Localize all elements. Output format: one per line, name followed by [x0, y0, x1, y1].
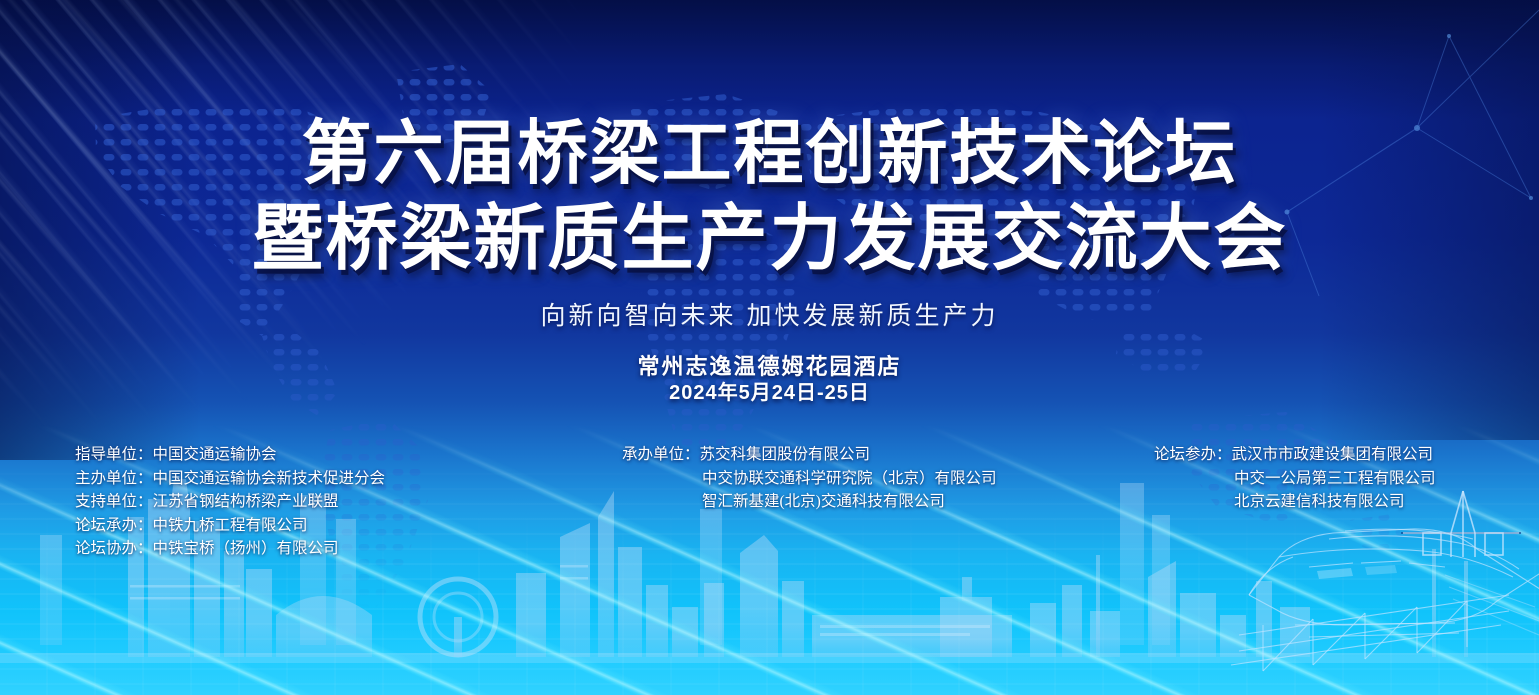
venue-name: 常州志逸温德姆花园酒店: [0, 353, 1539, 380]
org-value: 苏交科集团股份有限公司: [700, 446, 871, 463]
org-value: 江苏省钢结构桥梁产业联盟: [153, 493, 339, 510]
org-row: 指导单位：中国交通运输协会: [75, 443, 385, 467]
event-date: 2024年5月24日-25日: [0, 380, 1539, 406]
org-row: 中交协联交通科学研究院（北京）有限公司: [622, 467, 997, 491]
org-label: 论坛协办：: [75, 540, 153, 557]
org-value: 中国交通运输协会: [153, 446, 277, 463]
org-row: 主办单位：中国交通运输协会新技术促进分会: [75, 467, 385, 491]
org-label: 支持单位：: [75, 493, 153, 510]
organizations-block: 指导单位：中国交通运输协会 主办单位：中国交通运输协会新技术促进分会 支持单位：…: [0, 443, 1539, 573]
title-line-2: 暨桥梁新质生产力发展交流大会: [0, 197, 1539, 282]
org-row: 论坛参办：武汉市市政建设集团有限公司: [1154, 443, 1436, 467]
org-value: 中铁宝桥（扬州）有限公司: [153, 540, 339, 557]
org-row: 支持单位：江苏省钢结构桥梁产业联盟: [75, 490, 385, 514]
org-row: 智汇新基建(北京)交通科技有限公司: [622, 490, 997, 514]
org-label: 指导单位：: [75, 446, 153, 463]
org-row: 论坛承办：中铁九桥工程有限公司: [75, 514, 385, 538]
org-column-right: 论坛参办：武汉市市政建设集团有限公司 中交一公局第三工程有限公司 北京云建信科技…: [1154, 443, 1436, 514]
org-value: 智汇新基建(北京)交通科技有限公司: [702, 493, 945, 510]
org-row: 论坛协办：中铁宝桥（扬州）有限公司: [75, 537, 385, 561]
banner-content: 第六届桥梁工程创新技术论坛 暨桥梁新质生产力发展交流大会 向新向智向未来 加快发…: [0, 0, 1539, 695]
org-label: 主办单位：: [75, 470, 153, 487]
org-column-left: 指导单位：中国交通运输协会 主办单位：中国交通运输协会新技术促进分会 支持单位：…: [75, 443, 385, 561]
slogan-text: 向新向智向未来 加快发展新质生产力: [0, 296, 1539, 332]
org-value: 武汉市市政建设集团有限公司: [1232, 446, 1434, 463]
org-row: 中交一公局第三工程有限公司: [1154, 467, 1436, 491]
org-value: 中交协联交通科学研究院（北京）有限公司: [702, 470, 997, 487]
org-label: 论坛承办：: [75, 517, 153, 534]
main-title: 第六届桥梁工程创新技术论坛 暨桥梁新质生产力发展交流大会: [0, 112, 1539, 282]
org-value: 北京云建信科技有限公司: [1234, 493, 1405, 510]
org-column-middle: 承办单位：苏交科集团股份有限公司 中交协联交通科学研究院（北京）有限公司 智汇新…: [622, 443, 997, 514]
org-value: 中国交通运输协会新技术促进分会: [153, 470, 386, 487]
org-label: 论坛参办：: [1154, 446, 1232, 463]
org-label: 承办单位：: [622, 446, 700, 463]
venue-block: 常州志逸温德姆花园酒店 2024年5月24日-25日: [0, 353, 1539, 406]
title-line-1: 第六届桥梁工程创新技术论坛: [0, 112, 1539, 197]
org-row: 北京云建信科技有限公司: [1154, 490, 1436, 514]
org-value: 中铁九桥工程有限公司: [153, 517, 308, 534]
org-value: 中交一公局第三工程有限公司: [1234, 470, 1436, 487]
conference-banner: 第六届桥梁工程创新技术论坛 暨桥梁新质生产力发展交流大会 向新向智向未来 加快发…: [0, 0, 1539, 695]
org-row: 承办单位：苏交科集团股份有限公司: [622, 443, 997, 467]
